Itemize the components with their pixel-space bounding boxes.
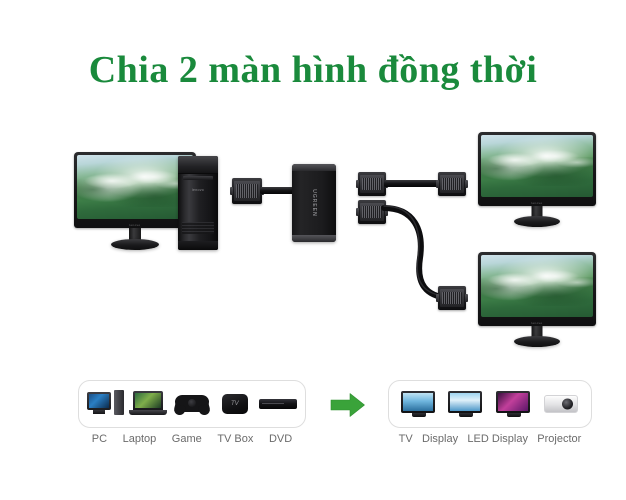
monitor-bezel: lenovo (478, 132, 596, 206)
vga-pins (442, 178, 462, 190)
vga-screw-left (356, 180, 359, 188)
source-label-tvbox: TV Box (217, 433, 253, 445)
device-icon-projector (541, 387, 581, 421)
desktop-computer-icon (87, 392, 111, 410)
vga-pins (362, 206, 382, 218)
vga-screw-left (356, 208, 359, 216)
vga-splitter-box: UGREEN (292, 164, 336, 242)
output-label-tv: TV (399, 433, 413, 445)
output-label-led-display: LED Display (467, 433, 528, 445)
device-icon-tv (399, 387, 439, 421)
source-label-dvd: DVD (269, 433, 292, 445)
desktop-tower-icon (114, 390, 124, 415)
output-1-vga-connector-near (358, 172, 386, 196)
tv-stand (412, 413, 426, 417)
vga-pins (236, 184, 258, 198)
monitor-icon (448, 391, 482, 413)
page-title: Chia 2 màn hình đồng thời (0, 48, 626, 92)
tower-vent (182, 222, 214, 234)
splitter-brand-logo: UGREEN (311, 189, 317, 216)
monitor-screen (481, 135, 593, 197)
device-icon-pc (86, 387, 126, 421)
vga-screw-right (465, 294, 468, 302)
vga-pins (362, 178, 382, 190)
monitor-screen (77, 155, 193, 219)
output-2-vga-connector-far (438, 286, 466, 310)
source-label-pc: PC (92, 433, 107, 445)
monitor-base (111, 239, 159, 250)
source-devices-group: TV (78, 380, 306, 428)
tv-box-icon: TV (222, 394, 248, 414)
source-label-game: Game (172, 433, 202, 445)
source-devices-row: TV (79, 381, 305, 427)
device-icon-laptop (129, 387, 169, 421)
tower-brand-logo: lenovo (192, 188, 204, 192)
projector-icon (544, 395, 578, 413)
output-label-projector: Projector (537, 433, 581, 445)
output-monitor-1: lenovo (478, 132, 596, 228)
tower-foot (178, 241, 218, 250)
source-label-laptop: Laptop (123, 433, 157, 445)
tower-top-panel (178, 156, 218, 174)
output-label-display: Display (422, 433, 458, 445)
device-icon-tvbox: TV (215, 387, 255, 421)
splitter-top-cap (292, 164, 336, 171)
output-vga-cable-1 (384, 180, 440, 187)
vga-pins (442, 292, 462, 304)
pc-tower: lenovo (178, 156, 218, 250)
tower-optical-bay (183, 176, 213, 180)
dvd-player-icon (259, 399, 297, 409)
laptop-base (129, 410, 167, 415)
splitter-bottom-cap (292, 235, 336, 242)
monitor-brand-logo: lenovo (531, 321, 542, 325)
input-vga-connector (232, 178, 262, 204)
vga-screw-left (436, 180, 439, 188)
led-monitor-stand (507, 413, 521, 417)
monitor-base (514, 216, 560, 227)
monitor-brand-logo: lenovo (129, 223, 140, 227)
infographic-page: Chia 2 màn hình đồng thời lenovo lenovo (0, 0, 626, 500)
vga-screw-left (230, 187, 233, 195)
monitor-screen (481, 255, 593, 317)
vga-screw-right (465, 180, 468, 188)
device-icon-dvd (258, 387, 298, 421)
device-icon-led-display (494, 387, 534, 421)
monitor-base (514, 336, 560, 347)
output-devices-labels: TV Display LED Display Projector (388, 433, 592, 445)
input-vga-cable (260, 187, 294, 194)
arrow-right-icon (330, 392, 366, 418)
device-icon-game (172, 387, 212, 421)
output-monitor-2: lenovo (478, 252, 596, 348)
monitor-bezel: lenovo (478, 252, 596, 326)
device-icon-display (446, 387, 486, 421)
output-1-vga-connector-far (438, 172, 466, 196)
monitor-brand-logo: lenovo (531, 201, 542, 205)
gamepad-icon (175, 395, 209, 412)
source-devices-labels: PC Laptop Game TV Box DVD (78, 433, 306, 445)
output-devices-group (388, 380, 592, 428)
led-monitor-icon (496, 391, 530, 413)
monitor-stand (459, 413, 473, 417)
tv-icon (401, 391, 435, 413)
vga-screw-left (436, 294, 439, 302)
output-devices-row (389, 381, 591, 427)
laptop-icon (133, 391, 163, 410)
